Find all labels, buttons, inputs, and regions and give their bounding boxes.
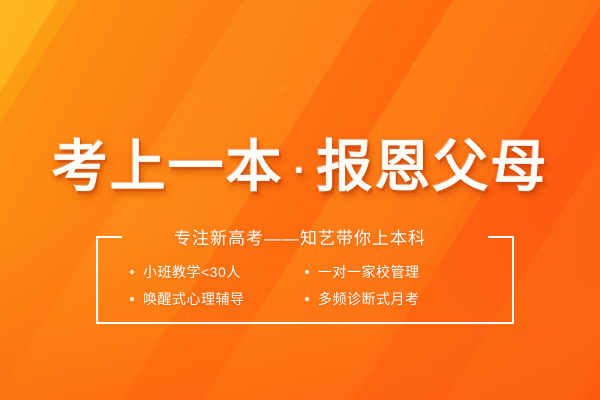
headline: 考上一本·报恩父母: [0, 139, 600, 195]
bullet-icon: [305, 270, 309, 274]
bullet-icon: [305, 297, 309, 301]
feature-item: 唤醒式心理辅导: [130, 289, 305, 309]
feature-item: 一对一家校管理: [305, 262, 480, 282]
promo-banner: 考上一本·报恩父母 专注新高考——知艺带你上本科 小班教学<30人 一对一家校管…: [0, 0, 600, 400]
headline-separator-dot: ·: [294, 150, 307, 192]
feature-item: 多频诊断式月考: [305, 289, 480, 309]
feature-label: 唤醒式心理辅导: [143, 289, 245, 309]
bullet-icon: [130, 270, 134, 274]
subtitle: 专注新高考——知艺带你上本科: [0, 230, 600, 247]
bullet-icon: [130, 297, 134, 301]
headline-part-one: 考上一本: [52, 135, 284, 198]
feature-item: 小班教学<30人: [130, 262, 305, 282]
feature-label: 小班教学<30人: [143, 262, 241, 282]
feature-label: 多频诊断式月考: [318, 289, 420, 309]
headline-part-two: 报恩父母: [316, 135, 548, 198]
feature-label: 一对一家校管理: [318, 262, 420, 282]
banner-content: 考上一本·报恩父母 专注新高考——知艺带你上本科 小班教学<30人 一对一家校管…: [0, 0, 600, 400]
feature-list: 小班教学<30人 一对一家校管理 唤醒式心理辅导 多频诊断式月考: [96, 262, 514, 309]
